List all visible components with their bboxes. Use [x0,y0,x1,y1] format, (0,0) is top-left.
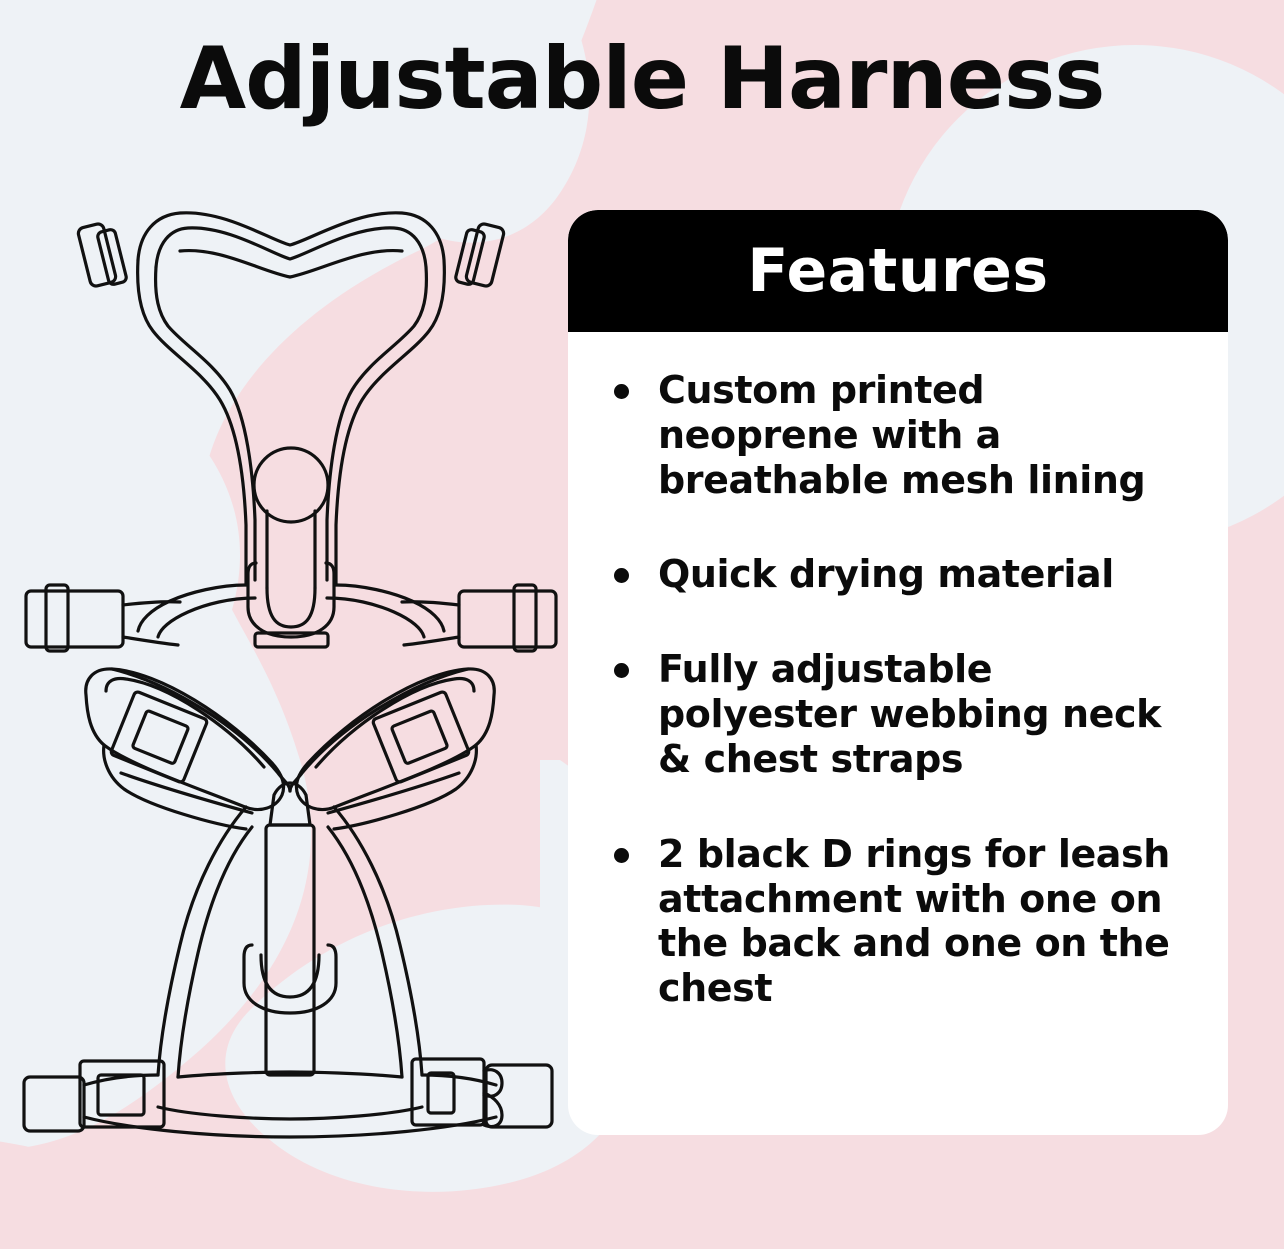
feature-item: Quick drying material [604,552,1194,597]
feature-item: 2 black D rings for leash attachment wit… [604,832,1194,1011]
features-header: Features [568,210,1228,332]
features-heading: Features [747,241,1048,301]
dog-harness-back-view-illustration [20,185,560,675]
bullet-dot-icon [614,848,629,863]
feature-item-text: Quick drying material [658,552,1114,596]
feature-item-text: 2 black D rings for leash attachment wit… [658,832,1170,1010]
product-info-graphic: Adjustable Harness [0,0,1284,1249]
bullet-dot-icon [614,384,629,399]
dog-harness-front-view-illustration [20,655,560,1155]
feature-item-text: Custom printed neoprene with a breathabl… [658,368,1145,502]
page-title-text: Adjustable Harness [180,29,1105,129]
feature-item-text: Fully adjustable polyester webbing neck … [658,647,1161,781]
bullet-dot-icon [614,568,629,583]
features-list: Custom printed neoprene with a breathabl… [568,332,1228,1011]
feature-item: Fully adjustable polyester webbing neck … [604,647,1194,781]
bullet-dot-icon [614,663,629,678]
feature-item: Custom printed neoprene with a breathabl… [604,368,1194,502]
page-title: Adjustable Harness [0,34,1284,124]
features-card: Features Custom printed neoprene with a … [568,210,1228,1135]
